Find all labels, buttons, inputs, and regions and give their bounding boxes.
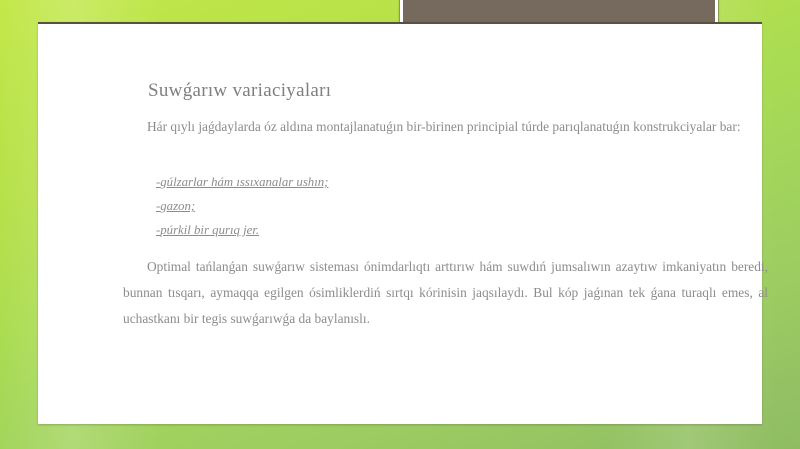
outro-paragraph: Optimal tańlanǵan suwǵarıw sisteması óni… <box>123 254 768 332</box>
intro-paragraph: Hár qıylı jaǵdaylarda óz aldına montajla… <box>123 114 768 140</box>
page-title: Suwǵarıw variaciyaları <box>148 80 331 102</box>
slide-content-panel: Suwǵarıw variaciyaları Hár qıylı jaǵdayl… <box>38 22 762 424</box>
list-item-label: gúlzarlar hám ıssıxanalar ushın; <box>160 175 328 189</box>
list-item-label: gazon; <box>160 199 195 213</box>
list-item: -gúlzarlar hám ıssıxanalar ushın; <box>156 170 716 194</box>
list-item-label: púrkil bir qurıq jer. <box>160 223 259 237</box>
presentation-slide: Suwǵarıw variaciyaları Hár qıylı jaǵdayl… <box>0 0 800 449</box>
list-item: -gazon; <box>156 194 716 218</box>
list-item: -púrkil bir qurıq jer. <box>156 218 716 242</box>
construction-types-list: -gúlzarlar hám ıssıxanalar ushın; -gazon… <box>156 170 716 242</box>
